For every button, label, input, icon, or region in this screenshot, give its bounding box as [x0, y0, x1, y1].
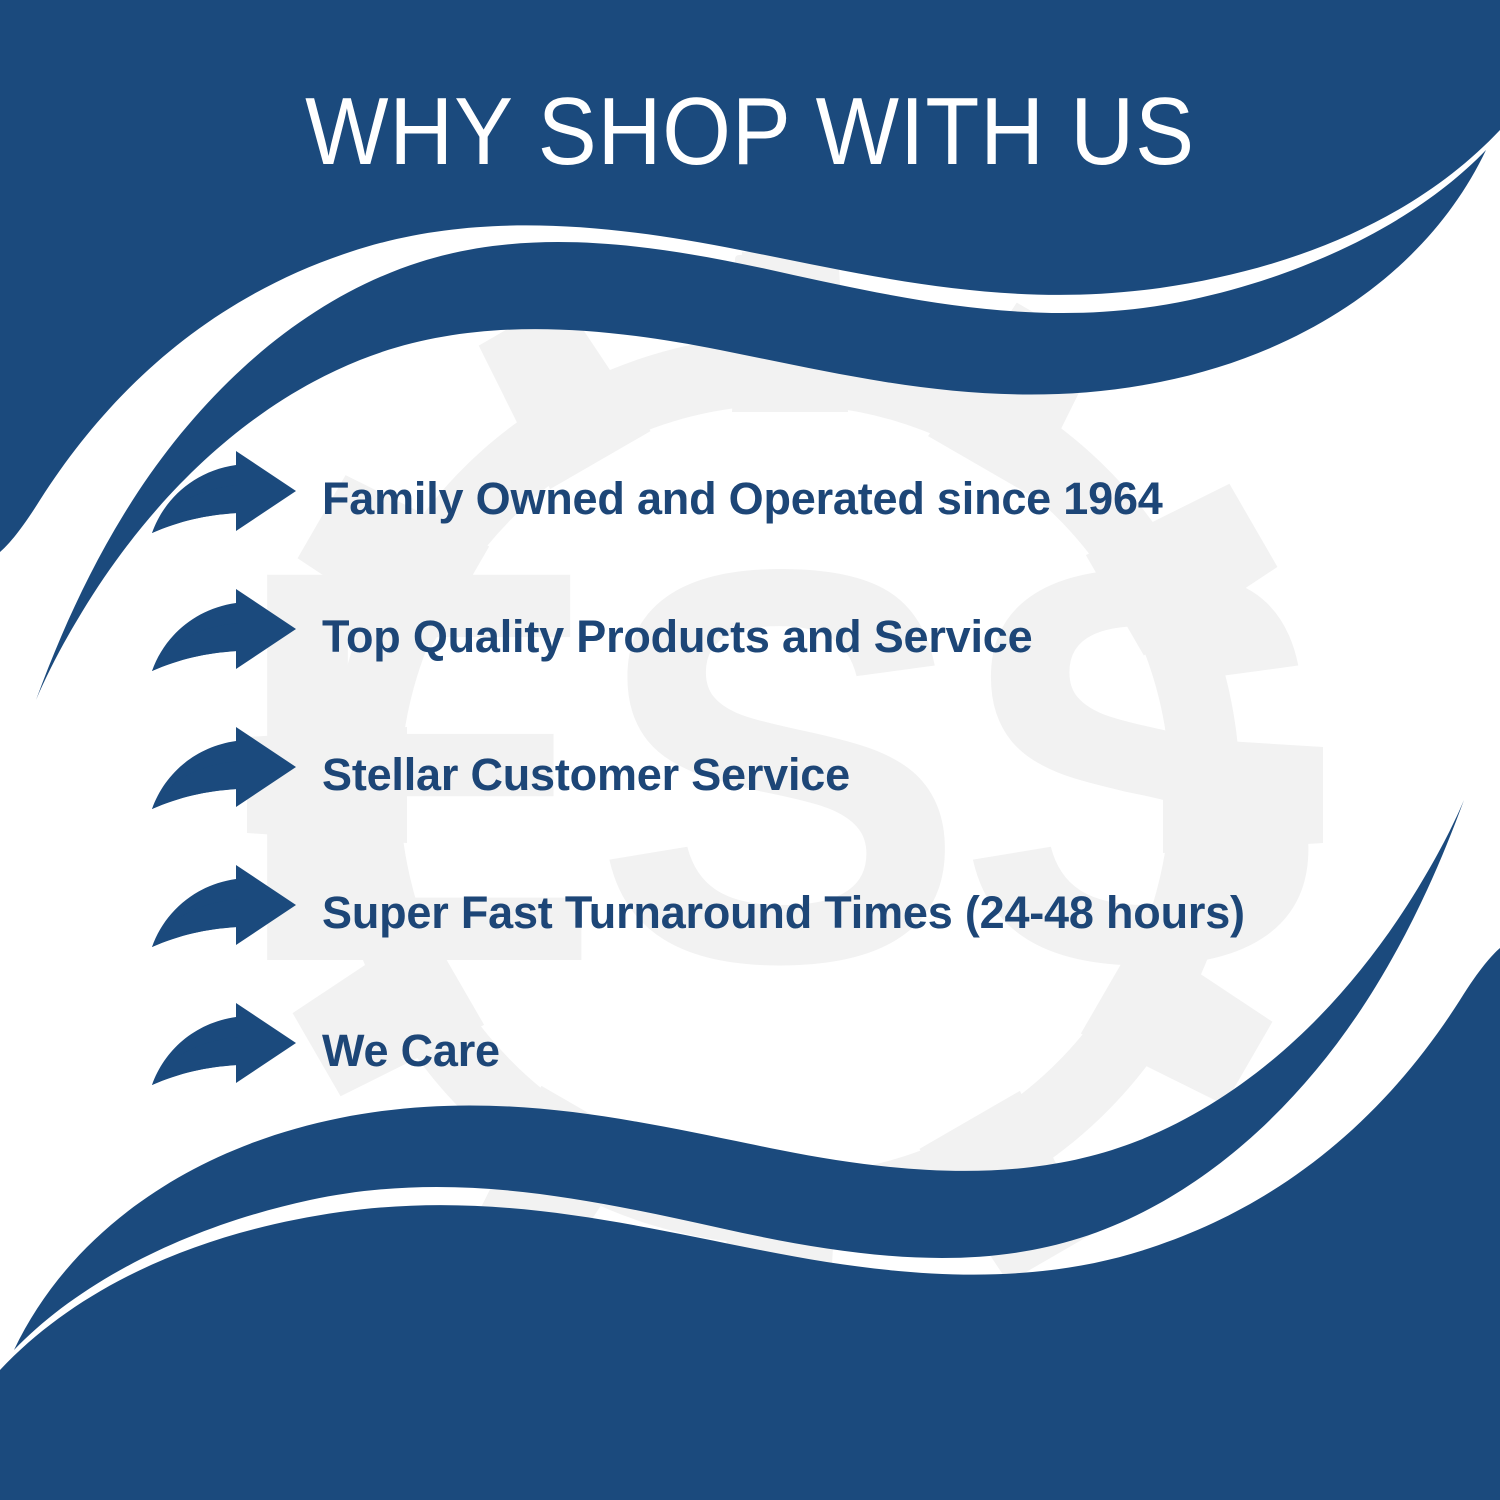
curved-arrow-icon: [150, 451, 300, 547]
curved-arrow-icon: [150, 589, 300, 685]
curved-arrow-icon: [150, 727, 300, 823]
list-item: We Care: [0, 982, 1500, 1120]
list-item: Family Owned and Operated since 1964: [0, 430, 1500, 568]
poster-canvas: ESS WHY SHOP WITH US Family Owned and Op…: [0, 0, 1500, 1500]
list-item: Top Quality Products and Service: [0, 568, 1500, 706]
list-item-label: Stellar Customer Service: [322, 749, 1500, 801]
list-item-label: We Care: [322, 1025, 1500, 1077]
list-item: Stellar Customer Service: [0, 706, 1500, 844]
list-item: Super Fast Turnaround Times (24-48 hours…: [0, 844, 1500, 982]
curved-arrow-icon: [150, 1003, 300, 1099]
list-item-label: Top Quality Products and Service: [322, 611, 1500, 663]
list-item-label: Super Fast Turnaround Times (24-48 hours…: [322, 887, 1500, 939]
list-item-label: Family Owned and Operated since 1964: [322, 473, 1500, 525]
curved-arrow-icon: [150, 865, 300, 961]
benefits-list: Family Owned and Operated since 1964 Top…: [0, 430, 1500, 1120]
page-title: WHY SHOP WITH US: [60, 82, 1440, 183]
